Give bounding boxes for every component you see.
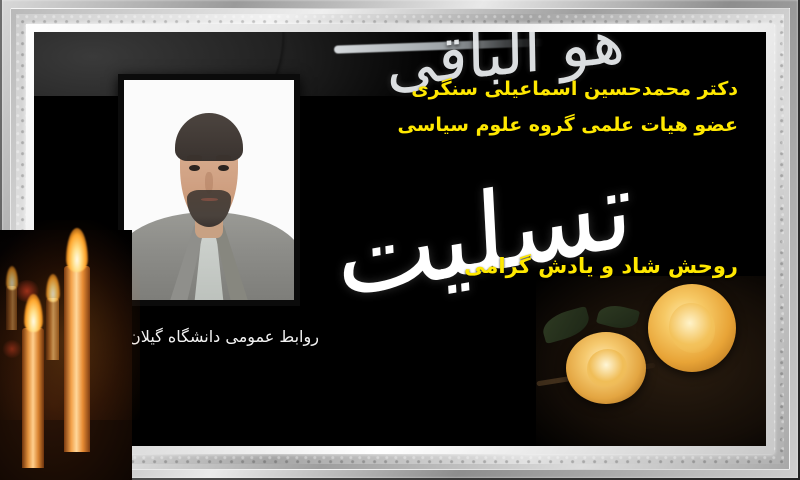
rose-bloom: [648, 284, 736, 372]
candle-flame: [24, 294, 43, 332]
candle-body: [6, 286, 17, 330]
rose-bloom: [566, 332, 646, 404]
portrait-mouth: [201, 198, 218, 202]
candle-flame: [66, 228, 88, 272]
portrait-photo-mount: [118, 74, 300, 306]
yellow-roses: [536, 276, 766, 446]
candle-body: [22, 328, 44, 468]
portrait-eyebrow-right: [216, 155, 231, 161]
candle-ember: [2, 340, 22, 358]
deceased-text-block: دکتر محمدحسین اسماعیلی سنگری عضو هیات عل…: [438, 80, 738, 152]
portrait-eye-right: [218, 165, 228, 171]
candle-body: [64, 266, 90, 452]
candle-body: [46, 298, 59, 360]
candle-flame: [6, 266, 18, 290]
lit-candles: [0, 230, 132, 480]
deceased-name: دکتر محمدحسین اسماعیلی سنگری: [438, 80, 738, 99]
candle-flame: [46, 274, 60, 302]
signature-public-relations: روابط عمومی دانشگاه گیلان: [114, 327, 334, 346]
portrait-eye-left: [189, 165, 199, 171]
portrait-photo: [124, 80, 294, 300]
portrait-eyebrow-left: [187, 155, 202, 161]
artwork-canvas: هو الباقی تسلیت: [34, 32, 766, 446]
condolence-wish: روحش شاد و یادش گرامی: [438, 254, 738, 278]
deceased-title: عضو هیات علمی گروه علوم سیاسی: [438, 116, 738, 135]
condolence-banner: هو الباقی تسلیت: [0, 0, 800, 480]
rose-leaf: [596, 301, 640, 332]
